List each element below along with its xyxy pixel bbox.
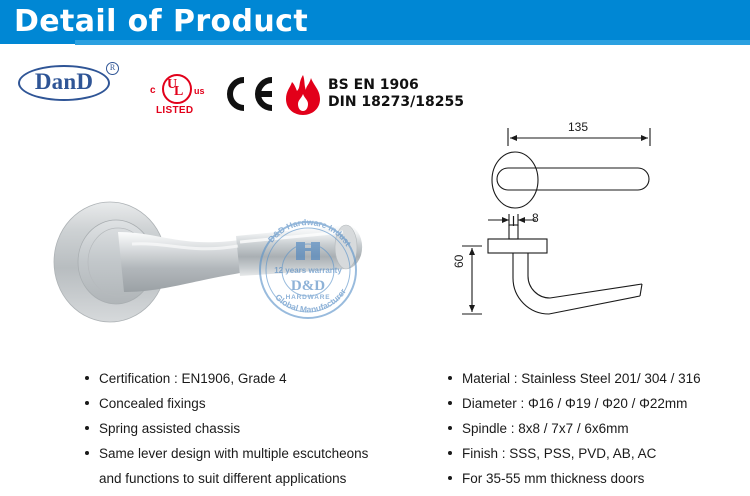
- spec-text: Finish : SSS, PSS, PVD, AB, AC: [462, 446, 656, 461]
- ul-listed-label: LISTED: [156, 105, 193, 116]
- spec-text: For 35-55 mm thickness doors: [462, 471, 644, 486]
- ul-listed-icon: U L c us LISTED: [148, 74, 214, 118]
- bullet-icon: [448, 451, 452, 455]
- bullet-icon: [448, 376, 452, 380]
- spec-text: Concealed fixings: [99, 396, 206, 411]
- ul-suffix-us: us: [194, 86, 205, 96]
- spec-text-continuation: and functions to suit different applicat…: [85, 466, 405, 491]
- ce-mark-icon: [220, 76, 276, 112]
- spec-text: Material : Stainless Steel 201/ 304 / 31…: [462, 371, 701, 386]
- spec-item: Concealed fixings: [85, 391, 405, 416]
- ul-monogram-l: L: [174, 85, 183, 98]
- standards-line-1: BS EN 1906: [328, 77, 464, 94]
- svg-text:HARDWARE: HARDWARE: [286, 294, 331, 301]
- spec-text: Spindle : 8x8 / 7x7 / 6x6mm: [462, 421, 629, 436]
- bullet-icon: [448, 426, 452, 430]
- spec-text: Diameter : Φ16 / Φ19 / Φ20 / Φ22mm: [462, 396, 687, 411]
- registered-trademark-icon: R: [106, 62, 119, 75]
- standards-text: BS EN 1906 DIN 18273/18255: [328, 77, 464, 111]
- brand-logo: DanD R: [18, 62, 118, 104]
- flame-icon: [284, 74, 322, 116]
- spec-item: Material : Stainless Steel 201/ 304 / 31…: [448, 366, 748, 391]
- page-title: Detail of Product: [14, 3, 308, 41]
- dimension-label-projection: 60: [452, 255, 466, 268]
- dimension-label-spindle: 8: [532, 211, 539, 225]
- bullet-icon: [448, 476, 452, 480]
- dimension-label-length: 135: [568, 120, 588, 134]
- spec-item: Spring assisted chassis: [85, 416, 405, 441]
- specs-list-right: Material : Stainless Steel 201/ 304 / 31…: [448, 366, 748, 491]
- technical-drawing: 135 8 60: [440, 118, 740, 350]
- standards-line-2: DIN 18273/18255: [328, 94, 464, 111]
- spec-item: For 35-55 mm thickness doors: [448, 466, 748, 491]
- bullet-icon: [85, 401, 89, 405]
- spec-text: Certification : EN1906, Grade 4: [99, 371, 287, 386]
- specs-list-left: Certification : EN1906, Grade 4 Conceale…: [85, 366, 405, 491]
- spec-item: Certification : EN1906, Grade 4: [85, 366, 405, 391]
- spec-item: Spindle : 8x8 / 7x7 / 6x6mm: [448, 416, 748, 441]
- product-photo: D&D Hardware Industrial Co., Ltd Global …: [40, 180, 380, 355]
- spec-item: Finish : SSS, PSS, PVD, AB, AC: [448, 441, 748, 466]
- bullet-icon: [448, 401, 452, 405]
- bullet-icon: [85, 376, 89, 380]
- bullet-icon: [85, 451, 89, 455]
- ul-prefix-c: c: [150, 86, 156, 96]
- spec-item: Same lever design with multiple escutche…: [85, 441, 405, 466]
- spec-item: Diameter : Φ16 / Φ19 / Φ20 / Φ22mm: [448, 391, 748, 416]
- bullet-icon: [85, 426, 89, 430]
- spec-text: Same lever design with multiple escutche…: [99, 446, 368, 461]
- svg-text:D&D: D&D: [291, 278, 325, 294]
- svg-text:12 years warranty: 12 years warranty: [274, 266, 342, 275]
- spec-text: Spring assisted chassis: [99, 421, 240, 436]
- logo-text: DanD: [18, 65, 110, 101]
